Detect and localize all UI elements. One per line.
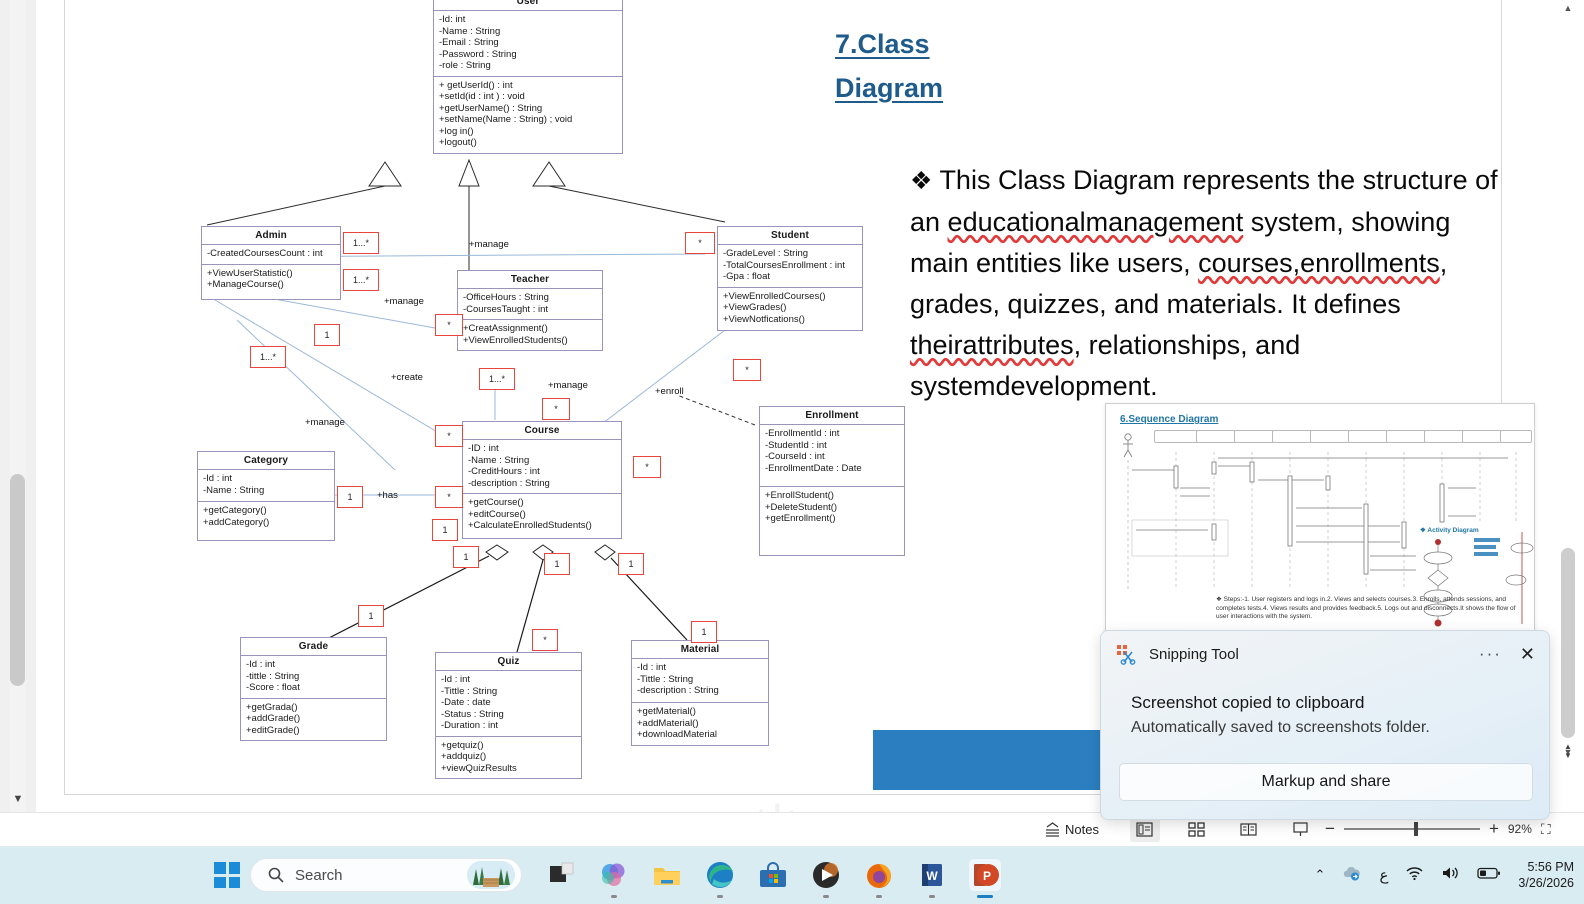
multiplicity-badge: 1...* bbox=[343, 232, 379, 254]
fit-slide-button[interactable]: ⛶ bbox=[1541, 821, 1551, 838]
multiplicity-badge: 1 bbox=[432, 519, 458, 541]
class-attributes: -GradeLevel : String -TotalCoursesEnroll… bbox=[718, 245, 862, 288]
multiplicity-badge: 1 bbox=[691, 621, 717, 643]
zoom-in-button[interactable]: + bbox=[1489, 819, 1499, 839]
screen: ▼ bbox=[0, 0, 1584, 904]
edge-button[interactable] bbox=[703, 858, 737, 892]
class-name: Admin bbox=[202, 227, 340, 245]
class-box-user[interactable]: User -Id: int -Name : String -Email : St… bbox=[433, 0, 623, 154]
class-attributes: -Id : int -Name : String bbox=[198, 470, 334, 502]
multiplicity-badge: * bbox=[435, 486, 463, 508]
slide-show-icon bbox=[1292, 821, 1310, 838]
multiplicity-badge: 1 bbox=[358, 605, 384, 627]
slide-title-line1: 7.Class bbox=[835, 29, 930, 59]
relation-label: +manage bbox=[548, 380, 588, 391]
battery-icon[interactable] bbox=[1477, 866, 1501, 885]
notification-more-button[interactable]: ··· bbox=[1479, 644, 1502, 664]
copilot-button[interactable] bbox=[597, 858, 631, 892]
body-part-1: educationalmanagement bbox=[948, 207, 1244, 237]
search-input[interactable]: Search bbox=[250, 858, 522, 892]
language-indicator[interactable]: ع bbox=[1379, 866, 1388, 884]
multiplicity-badge: 1...* bbox=[343, 269, 379, 291]
file-explorer-button[interactable] bbox=[650, 858, 684, 892]
class-methods: + getUserId() : int +setId(id : int ) : … bbox=[434, 77, 622, 153]
running-indicator bbox=[717, 895, 723, 898]
class-name: Quiz bbox=[436, 653, 581, 671]
search-icon bbox=[267, 866, 285, 884]
lifeline-header bbox=[1348, 430, 1388, 443]
multiplicity-badge: * bbox=[532, 629, 558, 651]
left-scrollbar-thumb[interactable] bbox=[10, 474, 25, 686]
taskbar-center-group: Search bbox=[214, 846, 1002, 904]
class-attributes: -Id : int -tittle : String -Score : floa… bbox=[241, 656, 386, 699]
lifeline-header bbox=[1272, 430, 1312, 443]
notification-subtitle: Automatically saved to screenshots folde… bbox=[1131, 719, 1430, 737]
class-box-material[interactable]: Material -Id : int -Tittle : String -des… bbox=[631, 640, 769, 746]
slide-nav-buttons[interactable]: ▲ ▼ bbox=[1560, 742, 1576, 776]
zoom-out-button[interactable]: − bbox=[1325, 819, 1335, 839]
class-methods: +getMaterial() +addMaterial() +downloadM… bbox=[632, 703, 768, 745]
lifeline-header bbox=[1424, 430, 1464, 443]
zoom-level-label[interactable]: 92% bbox=[1508, 822, 1532, 836]
running-indicator bbox=[823, 895, 829, 898]
time-label: 5:56 PM bbox=[1518, 859, 1574, 875]
markup-and-share-button[interactable]: Markup and share bbox=[1119, 763, 1533, 801]
lifeline-header bbox=[1154, 430, 1200, 443]
class-box-grade[interactable]: Grade -Id : int -tittle : String -Score … bbox=[240, 637, 387, 741]
class-attributes: -Id : int -Tittle : String -Date : date … bbox=[436, 671, 581, 737]
class-name: Course bbox=[463, 422, 621, 440]
lifeline-header bbox=[1500, 430, 1532, 443]
class-name: User bbox=[434, 0, 622, 11]
task-view-icon bbox=[544, 858, 578, 892]
normal-view-icon bbox=[1136, 821, 1154, 838]
clock[interactable]: 5:56 PM 3/26/2026 bbox=[1518, 859, 1574, 891]
class-name: Student bbox=[718, 227, 862, 245]
system-tray: ⌃ ع bbox=[1315, 846, 1574, 904]
svg-text:P: P bbox=[983, 869, 991, 883]
powerpoint-button[interactable]: P bbox=[968, 858, 1002, 892]
edge-icon bbox=[703, 858, 737, 892]
multiplicity-badge: 1...* bbox=[250, 346, 286, 368]
class-attributes: -EnrollmentId : int -StudentId : int -Co… bbox=[760, 425, 904, 487]
class-name: Teacher bbox=[458, 271, 602, 289]
multiplicity-badge: 1 bbox=[314, 324, 340, 346]
class-box-teacher[interactable]: Teacher -OfficeHours : String -CoursesTa… bbox=[457, 270, 603, 351]
relation-label: +manage bbox=[384, 296, 424, 307]
reading-view-icon bbox=[1240, 821, 1258, 838]
search-placeholder: Search bbox=[295, 867, 457, 884]
sequence-diagram-title: 6.Sequence Diagram bbox=[1120, 414, 1218, 425]
running-indicator bbox=[876, 895, 882, 898]
zoom-slider-thumb[interactable] bbox=[1414, 822, 1418, 836]
sequence-diagram-note: ❖ Steps:-1. User registers and logs in.2… bbox=[1216, 596, 1516, 622]
class-methods: +ViewEnrolledCourses() +ViewGrades() +Vi… bbox=[718, 288, 862, 330]
microsoft-store-button[interactable] bbox=[756, 858, 790, 892]
activity-diagram-title: ❖ Activity Diagram bbox=[1420, 526, 1479, 534]
show-hidden-icons-button[interactable]: ⌃ bbox=[1315, 867, 1326, 883]
multiplicity-badge: 1...* bbox=[479, 368, 515, 390]
class-attributes: -ID : int -Name : String -CreditHours : … bbox=[463, 440, 621, 494]
multiplicity-badge: * bbox=[542, 398, 570, 420]
body-part-5: theirattributes bbox=[910, 330, 1074, 360]
slide-body-text[interactable]: ❖ This Class Diagram represents the stru… bbox=[910, 160, 1500, 407]
slide-title-line2: Diagram bbox=[835, 73, 943, 103]
slide-sorter-icon bbox=[1188, 821, 1206, 838]
class-name: Material bbox=[632, 641, 768, 659]
class-methods: +getCategory() +addCategory() bbox=[198, 502, 334, 540]
class-box-quiz[interactable]: Quiz -Id : int -Tittle : String -Date : … bbox=[435, 652, 582, 779]
previous-slide-icon[interactable]: ▲ bbox=[1560, 742, 1576, 751]
bullet-icon: ❖ bbox=[910, 167, 932, 195]
multiplicity-badge: 1 bbox=[544, 553, 570, 575]
next-slide-icon[interactable]: ▼ bbox=[1560, 751, 1576, 760]
cloud-icon bbox=[1342, 865, 1362, 881]
class-name: Category bbox=[198, 452, 334, 470]
class-attributes: -CreatedCoursesCount : int bbox=[202, 245, 340, 265]
notes-label: Notes bbox=[1065, 822, 1099, 837]
class-diagram-image[interactable]: User -Id: int -Name : String -Email : St… bbox=[65, 0, 945, 795]
notification-title: Screenshot copied to clipboard bbox=[1131, 693, 1364, 713]
relation-label: +enroll bbox=[655, 386, 684, 397]
notification-app-name: Snipping Tool bbox=[1149, 646, 1239, 663]
lifeline-header bbox=[1310, 430, 1350, 443]
relation-label: +manage bbox=[469, 239, 509, 250]
class-methods: +ViewUserStatistic() +ManageCourse() bbox=[202, 265, 340, 299]
class-box-student[interactable]: Student -GradeLevel : String -TotalCours… bbox=[717, 226, 863, 331]
wifi-glyph bbox=[1405, 865, 1424, 881]
lifeline-header bbox=[1196, 430, 1236, 443]
snipping-tool-notification[interactable]: Snipping Tool ··· ✕ Screenshot copied to… bbox=[1100, 630, 1550, 820]
powerpoint-icon: P bbox=[968, 858, 1002, 892]
relation-label: +manage bbox=[305, 417, 345, 428]
slide-title[interactable]: 7.Class Diagram bbox=[835, 22, 1135, 110]
onedrive-icon[interactable] bbox=[1342, 865, 1362, 886]
class-name: Enrollment bbox=[760, 407, 904, 425]
class-name: Grade bbox=[241, 638, 386, 656]
multiplicity-badge: 1 bbox=[337, 486, 363, 508]
scrollbar-thumb[interactable] bbox=[1561, 548, 1575, 738]
lifeline-header bbox=[1462, 430, 1502, 443]
multiplicity-badge: * bbox=[633, 456, 661, 478]
wifi-icon[interactable] bbox=[1405, 865, 1424, 886]
media-player-button[interactable] bbox=[809, 858, 843, 892]
left-panel: ▼ bbox=[0, 0, 36, 812]
active-indicator bbox=[977, 895, 993, 898]
word-icon: W bbox=[915, 858, 949, 892]
class-methods: +CreatAssignment() +ViewEnrolledStudents… bbox=[458, 320, 602, 350]
battery-glyph bbox=[1477, 866, 1501, 880]
sequence-diagram-thumbnail[interactable]: 6.Sequence Diagram bbox=[1105, 403, 1535, 635]
lifeline-header bbox=[1386, 430, 1426, 443]
search-highlight-image[interactable] bbox=[467, 861, 515, 889]
class-methods: +EnrollStudent() +DeleteStudent() +getEn… bbox=[760, 487, 904, 555]
speaker-glyph bbox=[1441, 865, 1460, 881]
svg-text:W: W bbox=[926, 869, 938, 883]
notes-icon bbox=[1044, 821, 1061, 838]
left-scrollbar-track[interactable] bbox=[10, 0, 26, 812]
class-attributes: -OfficeHours : String -CoursesTaught : i… bbox=[458, 289, 602, 320]
notes-button[interactable]: Notes bbox=[1044, 812, 1099, 846]
multiplicity-badge: * bbox=[685, 232, 715, 254]
slide-scrollbar[interactable]: ▲ ▼ bbox=[1560, 0, 1576, 760]
notification-header: Snipping Tool ··· ✕ bbox=[1101, 631, 1549, 677]
multiplicity-badge: * bbox=[435, 314, 463, 336]
scroll-down-icon[interactable]: ▼ bbox=[9, 790, 27, 808]
folder-icon bbox=[650, 858, 684, 892]
close-icon[interactable]: ✕ bbox=[1520, 644, 1535, 665]
running-indicator bbox=[929, 895, 935, 898]
zoom-slider[interactable] bbox=[1344, 828, 1480, 830]
task-view-button[interactable] bbox=[544, 858, 578, 892]
start-button-icon[interactable] bbox=[214, 862, 240, 888]
volume-icon[interactable] bbox=[1441, 865, 1460, 886]
multiplicity-badge: * bbox=[435, 425, 463, 447]
class-methods: +getquiz() +addquiz() +viewQuizResults bbox=[436, 737, 581, 779]
class-methods: +getCourse() +editCourse() +CalculateEnr… bbox=[463, 494, 621, 538]
word-button[interactable]: W bbox=[915, 858, 949, 892]
relation-label: +create bbox=[391, 372, 423, 383]
body-part-3: courses,enrollments bbox=[1198, 248, 1440, 278]
class-attributes: -Id: int -Name : String -Email : String … bbox=[434, 11, 622, 77]
class-box-category[interactable]: Category -Id : int -Name : String +getCa… bbox=[197, 451, 335, 541]
store-icon bbox=[756, 858, 790, 892]
multiplicity-badge: 1 bbox=[618, 553, 644, 575]
forest-bridge-icon bbox=[467, 861, 515, 889]
copilot-icon bbox=[597, 858, 631, 892]
class-box-enrollment[interactable]: Enrollment -EnrollmentId : int -StudentI… bbox=[759, 406, 905, 556]
taskbar-app-icons: W P bbox=[544, 858, 1002, 892]
firefox-button[interactable] bbox=[862, 858, 896, 892]
class-methods: +getGrada() +addGrade() +editGrade() bbox=[241, 699, 386, 741]
class-attributes: -Id : int -Tittle : String -description … bbox=[632, 659, 768, 703]
class-box-admin[interactable]: Admin -CreatedCoursesCount : int +ViewUs… bbox=[201, 226, 341, 300]
multiplicity-badge: 1 bbox=[453, 546, 479, 568]
media-player-icon bbox=[809, 858, 843, 892]
multiplicity-badge: * bbox=[733, 359, 761, 381]
lifeline-header bbox=[1234, 430, 1274, 443]
firefox-icon bbox=[862, 858, 896, 892]
snipping-tool-icon bbox=[1115, 643, 1137, 665]
scroll-up-icon[interactable]: ▲ bbox=[1560, 0, 1576, 16]
relation-label: +has bbox=[377, 490, 398, 501]
class-box-course[interactable]: Course -ID : int -Name : String -CreditH… bbox=[462, 421, 622, 539]
running-indicator bbox=[611, 895, 617, 898]
date-label: 3/26/2026 bbox=[1518, 875, 1574, 891]
